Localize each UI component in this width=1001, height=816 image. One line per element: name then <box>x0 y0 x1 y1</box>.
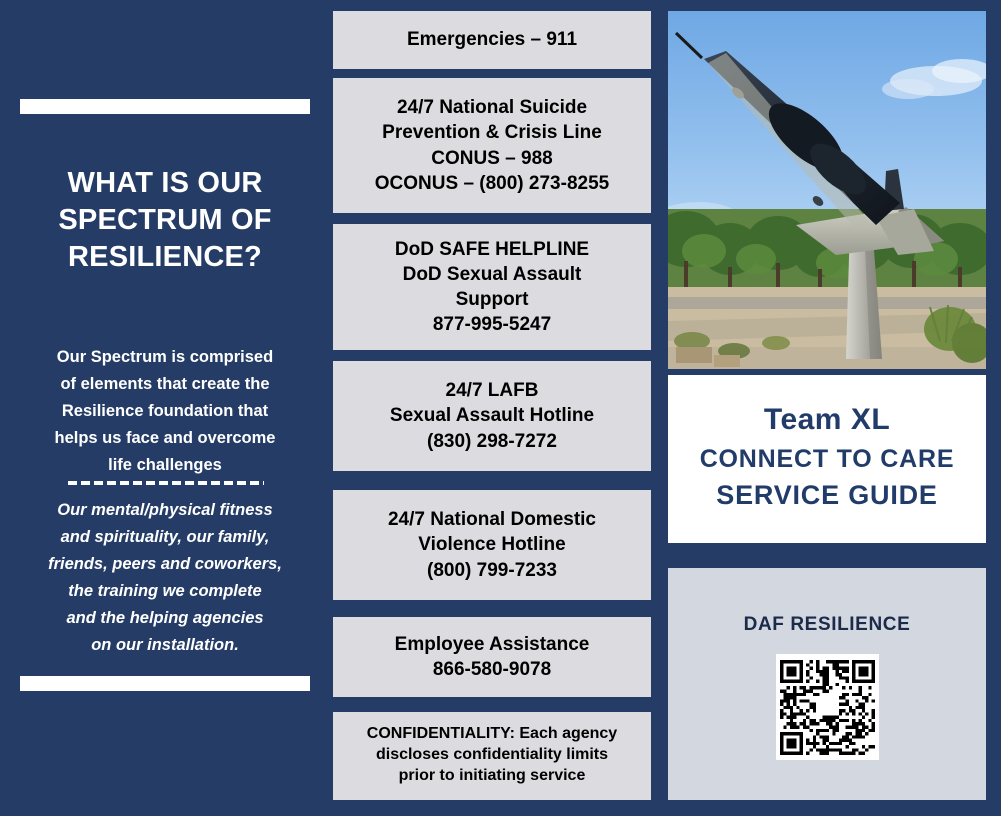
bottom-sliver-right <box>668 797 986 800</box>
info-box-line: CONFIDENTIALITY: Each agency <box>367 723 617 744</box>
top-rule-bar <box>20 99 310 114</box>
info-box-line: DoD Sexual Assault <box>395 262 589 287</box>
qr-code[interactable] <box>776 654 879 760</box>
title-team-xl: Team XL <box>668 401 986 439</box>
info-box-line: (830) 298-7272 <box>390 429 594 454</box>
info-box-text: 24/7 National DomesticViolence Hotline(8… <box>388 507 596 582</box>
info-box-line: discloses confidentiality limits <box>367 744 617 765</box>
heading-line-2: SPECTRUM OF <box>12 202 318 239</box>
info-box-suicide-prevention: 24/7 National SuicidePrevention & Crisis… <box>333 78 651 213</box>
title-connect-to-care: CONNECT TO CARE <box>668 443 986 476</box>
body-line-4: helps us face and overcome <box>16 425 314 452</box>
info-box-text: Emergencies – 911 <box>407 27 577 52</box>
info-box-emergencies: Emergencies – 911 <box>333 11 651 69</box>
italic-line-5: and the helping agencies <box>14 605 316 632</box>
info-box-text: Employee Assistance866-580-9078 <box>395 632 590 682</box>
body-line-5: life challenges <box>16 452 314 479</box>
info-box-text: DoD SAFE HELPLINEDoD Sexual AssaultSuppo… <box>395 237 589 337</box>
qr-code-svg[interactable] <box>780 660 875 755</box>
body-line-1: Our Spectrum is comprised <box>16 344 314 371</box>
left-panel: WHAT IS OUR SPECTRUM OF RESILIENCE? Our … <box>0 0 330 816</box>
info-box-line: prior to initiating service <box>367 765 617 786</box>
info-box-text: 24/7 National SuicidePrevention & Crisis… <box>375 95 609 195</box>
info-box-line: 866-580-9078 <box>395 657 590 682</box>
heading-line-3: RESILIENCE? <box>12 239 318 276</box>
info-box-line: OCONUS – (800) 273-8255 <box>375 171 609 196</box>
info-box-confidentiality-notice: CONFIDENTIALITY: Each agencydiscloses co… <box>333 712 651 797</box>
info-box-line: Violence Hotline <box>388 532 596 557</box>
title-service-guide: SERVICE GUIDE <box>668 478 986 513</box>
italic-line-2: and spirituality, our family, <box>14 524 316 551</box>
info-box-text: CONFIDENTIALITY: Each agencydiscloses co… <box>367 723 617 786</box>
jet-photo-svg <box>668 11 986 369</box>
right-column: Team XL CONNECT TO CARE SERVICE GUIDE DA… <box>668 0 986 816</box>
info-box-line: Support <box>395 287 589 312</box>
title-card: Team XL CONNECT TO CARE SERVICE GUIDE <box>668 375 986 543</box>
info-box-line: 24/7 National Domestic <box>388 507 596 532</box>
italic-line-3: friends, peers and coworkers, <box>14 551 316 578</box>
info-box-line: Sexual Assault Hotline <box>390 403 594 428</box>
left-panel-italic-text: Our mental/physical fitness and spiritua… <box>14 497 316 659</box>
body-line-2: of elements that create the <box>16 371 314 398</box>
italic-line-1: Our mental/physical fitness <box>14 497 316 524</box>
info-box-line: CONUS – 988 <box>375 146 609 171</box>
info-box-employee-assistance: Employee Assistance866-580-9078 <box>333 617 651 697</box>
info-box-dod-safe-helpline: DoD SAFE HELPLINEDoD Sexual AssaultSuppo… <box>333 224 651 350</box>
italic-line-4: the training we complete <box>14 578 316 605</box>
bottom-sliver-middle <box>333 797 651 800</box>
bottom-rule-bar <box>20 676 310 691</box>
qr-card: DAF RESILIENCE <box>668 568 986 797</box>
body-line-3: Resilience foundation that <box>16 398 314 425</box>
brochure-page: WHAT IS OUR SPECTRUM OF RESILIENCE? Our … <box>0 0 1001 816</box>
heading-line-1: WHAT IS OUR <box>12 165 318 202</box>
info-box-domestic-violence-hotline: 24/7 National DomesticViolence Hotline(8… <box>333 490 651 600</box>
left-panel-body-text: Our Spectrum is comprised of elements th… <box>16 344 314 478</box>
info-box-lafb-sexual-assault-hotline: 24/7 LAFBSexual Assault Hotline(830) 298… <box>333 361 651 471</box>
resource-boxes-column: Emergencies – 91124/7 National SuicidePr… <box>333 0 651 816</box>
jet-aircraft-photo <box>668 11 986 369</box>
info-box-line: (800) 799-7233 <box>388 558 596 583</box>
left-panel-heading: WHAT IS OUR SPECTRUM OF RESILIENCE? <box>12 165 318 276</box>
info-box-line: 24/7 LAFB <box>390 378 594 403</box>
info-box-text: 24/7 LAFBSexual Assault Hotline(830) 298… <box>390 378 594 453</box>
qr-label-daf-resilience: DAF RESILIENCE <box>668 614 986 636</box>
dashed-divider <box>68 481 264 485</box>
info-box-line: DoD SAFE HELPLINE <box>395 237 589 262</box>
info-box-line: 24/7 National Suicide <box>375 95 609 120</box>
info-box-line: Emergencies – 911 <box>407 27 577 52</box>
italic-line-6: on our installation. <box>14 632 316 659</box>
info-box-line: Employee Assistance <box>395 632 590 657</box>
info-box-line: 877-995-5247 <box>395 312 589 337</box>
info-box-line: Prevention & Crisis Line <box>375 120 609 145</box>
